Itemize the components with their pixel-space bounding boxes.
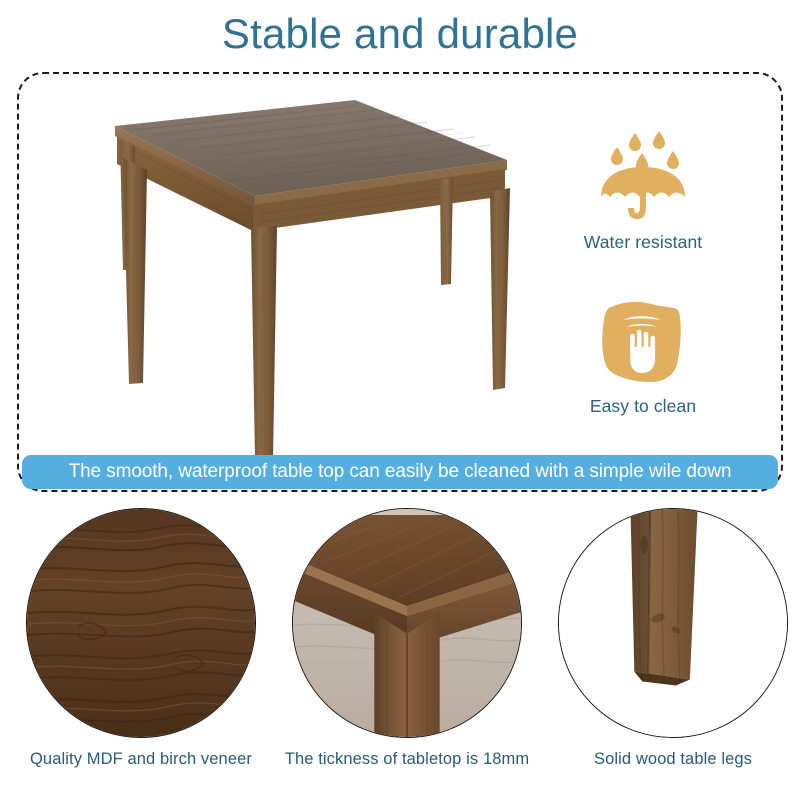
detail-item: The tickness of tabletop is 18mm — [274, 506, 540, 800]
detail-caption: Quality MDF and birch veneer — [8, 750, 274, 769]
detail-row: Quality MDF and birch veneer — [0, 506, 800, 800]
benefit-water-resistant: Water resistant — [548, 118, 738, 253]
umbrella-rain-icon — [548, 118, 738, 228]
benefit-label: Water resistant — [548, 232, 738, 253]
benefit-label: Easy to clean — [548, 396, 738, 417]
detail-caption: Solid wood table legs — [540, 750, 800, 769]
dining-table-image — [55, 88, 555, 458]
solid-wood-leg-closeup — [558, 508, 788, 738]
highlight-banner-text: The smooth, waterproof table top can eas… — [69, 461, 732, 483]
table-corner-joint-closeup — [292, 508, 522, 738]
page-title: Stable and durable — [0, 8, 800, 61]
tabletop-wood-grain-closeup — [26, 508, 256, 738]
detail-item: Quality MDF and birch veneer — [8, 506, 274, 800]
detail-caption: The tickness of tabletop is 18mm — [274, 750, 540, 769]
hand-wiping-cloth-icon — [548, 296, 738, 392]
benefit-easy-to-clean: Easy to clean — [548, 296, 738, 417]
highlight-banner: The smooth, waterproof table top can eas… — [22, 455, 778, 489]
detail-item: Solid wood table legs — [540, 506, 800, 800]
